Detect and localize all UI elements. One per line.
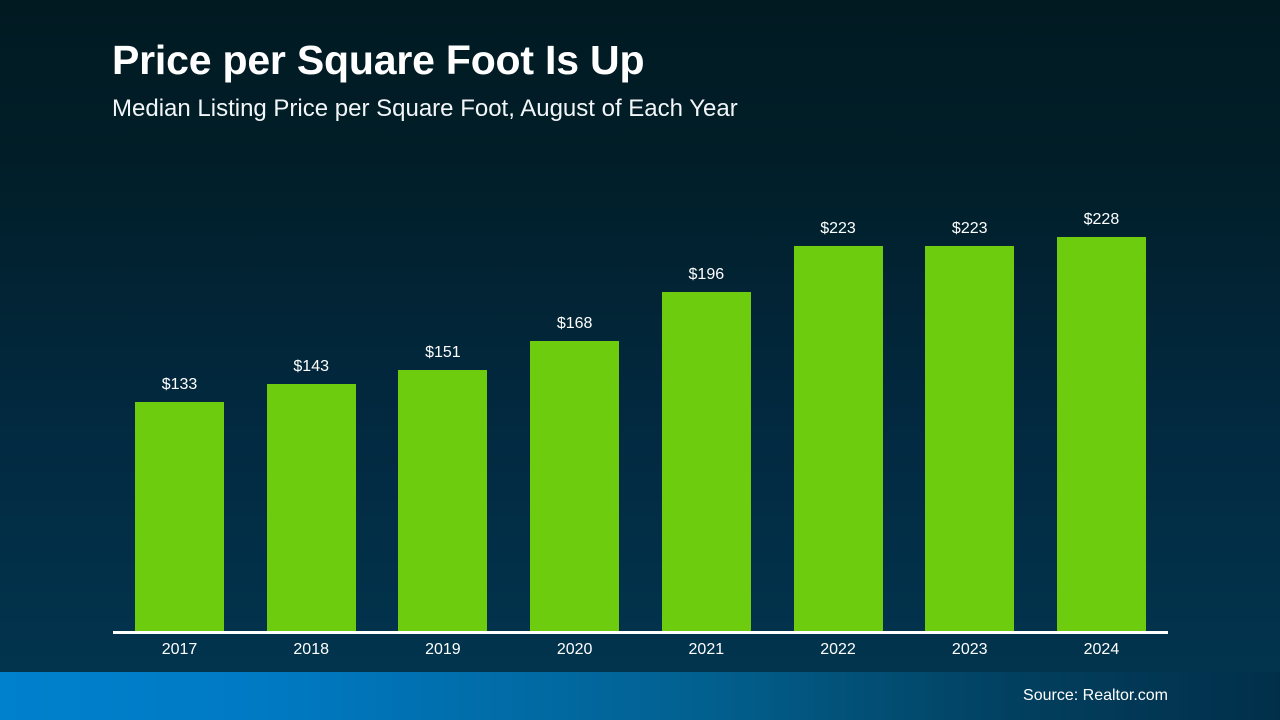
- source-attribution: Source: Realtor.com: [1023, 687, 1280, 705]
- bar-series: $133$143$151$168$196$223$223$228: [113, 180, 1168, 632]
- x-axis-label: 2017: [135, 640, 224, 659]
- bar-value-label: $133: [162, 377, 198, 402]
- bar-group: $223: [794, 180, 883, 632]
- chart-subtitle: Median Listing Price per Square Foot, Au…: [112, 81, 1172, 121]
- bar-rect[interactable]: [135, 402, 224, 632]
- bar-rect[interactable]: [267, 384, 356, 632]
- bar-rect[interactable]: [925, 246, 1014, 632]
- bar-group: $143: [267, 180, 356, 632]
- slide-canvas: Price per Square Foot Is Up Median Listi…: [0, 0, 1280, 720]
- footer-bar: Source: Realtor.com: [0, 672, 1280, 720]
- bar-rect[interactable]: [398, 370, 487, 632]
- x-axis-label: 2024: [1057, 640, 1146, 659]
- x-axis-label: 2018: [267, 640, 356, 659]
- bar-rect[interactable]: [1057, 237, 1146, 632]
- bar-group: $151: [398, 180, 487, 632]
- bar-value-label: $143: [293, 359, 329, 384]
- bar-group: $168: [530, 180, 619, 632]
- x-axis-label: 2019: [398, 640, 487, 659]
- chart-header: Price per Square Foot Is Up Median Listi…: [112, 40, 1172, 121]
- bar-value-label: $228: [1084, 212, 1120, 237]
- bar-rect[interactable]: [530, 341, 619, 632]
- chart-plot-area: $133$143$151$168$196$223$223$228: [113, 180, 1168, 632]
- bar-value-label: $223: [820, 221, 856, 246]
- bar-group: $133: [135, 180, 224, 632]
- bar-value-label: $151: [425, 345, 461, 370]
- bar-value-label: $223: [952, 221, 988, 246]
- x-axis-label: 2021: [662, 640, 751, 659]
- x-axis-label: 2020: [530, 640, 619, 659]
- bar-group: $196: [662, 180, 751, 632]
- bar-group: $228: [1057, 180, 1146, 632]
- x-axis-line: [113, 631, 1168, 634]
- bar-value-label: $196: [689, 267, 725, 292]
- bar-value-label: $168: [557, 316, 593, 341]
- bar-rect[interactable]: [794, 246, 883, 632]
- x-axis-label: 2022: [794, 640, 883, 659]
- page-title: Price per Square Foot Is Up: [112, 40, 1172, 81]
- bar-group: $223: [925, 180, 1014, 632]
- x-axis-tick-labels: 20172018201920202021202220232024: [113, 640, 1168, 659]
- x-axis-label: 2023: [925, 640, 1014, 659]
- bar-rect[interactable]: [662, 292, 751, 632]
